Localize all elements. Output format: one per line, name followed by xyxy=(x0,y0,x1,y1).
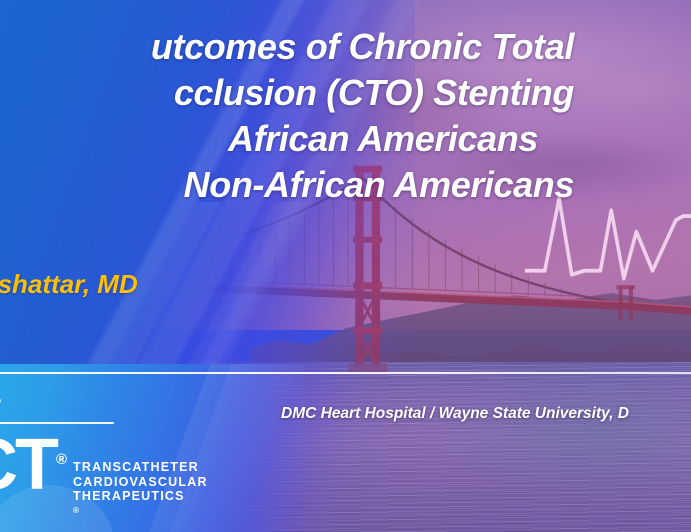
title-line-4: Non-African Americans xyxy=(0,162,574,208)
tct-crf-logo: RF* CT® TRANSCATHETER CARDIOVASCULAR THE… xyxy=(0,392,266,521)
tct-acronym-text: CT® xyxy=(0,422,67,503)
slide-title: utcomes of Chronic Total cclusion (CTO) … xyxy=(0,24,574,208)
title-line-3: African Americans xyxy=(0,116,574,162)
affiliation-text: DMC Heart Hospital / Wayne State Univers… xyxy=(281,404,629,424)
tct-expansion-text: TRANSCATHETER CARDIOVASCULAR THERAPEUTIC… xyxy=(73,460,208,521)
tct-expansion-line-1: TRANSCATHETER xyxy=(73,460,208,475)
tct-expansion-line-3-label: THERAPEUTICS xyxy=(73,489,208,504)
logo-main-row: CT® TRANSCATHETER CARDIOVASCULAR THERAPE… xyxy=(0,422,266,521)
tct-expansion-registered-mark: ® xyxy=(73,506,80,515)
presentation-title-slide: utcomes of Chronic Total cclusion (CTO) … xyxy=(0,0,691,532)
tct-expansion-line-3: THERAPEUTICS® xyxy=(73,489,208,521)
title-line-2: cclusion (CTO) Stenting xyxy=(0,70,574,116)
tct-registered-mark: ® xyxy=(56,451,67,468)
horizontal-divider-rule xyxy=(0,372,691,374)
tct-acronym-label: CT xyxy=(0,425,56,505)
presenter-name: ir Alshattar, MD xyxy=(0,268,138,300)
title-line-1: utcomes of Chronic Total xyxy=(0,24,574,70)
crf-trademark-mark: * xyxy=(0,397,2,409)
tct-expansion-line-2: CARDIOVASCULAR xyxy=(73,475,208,490)
crf-logo-text: RF* xyxy=(0,392,266,419)
